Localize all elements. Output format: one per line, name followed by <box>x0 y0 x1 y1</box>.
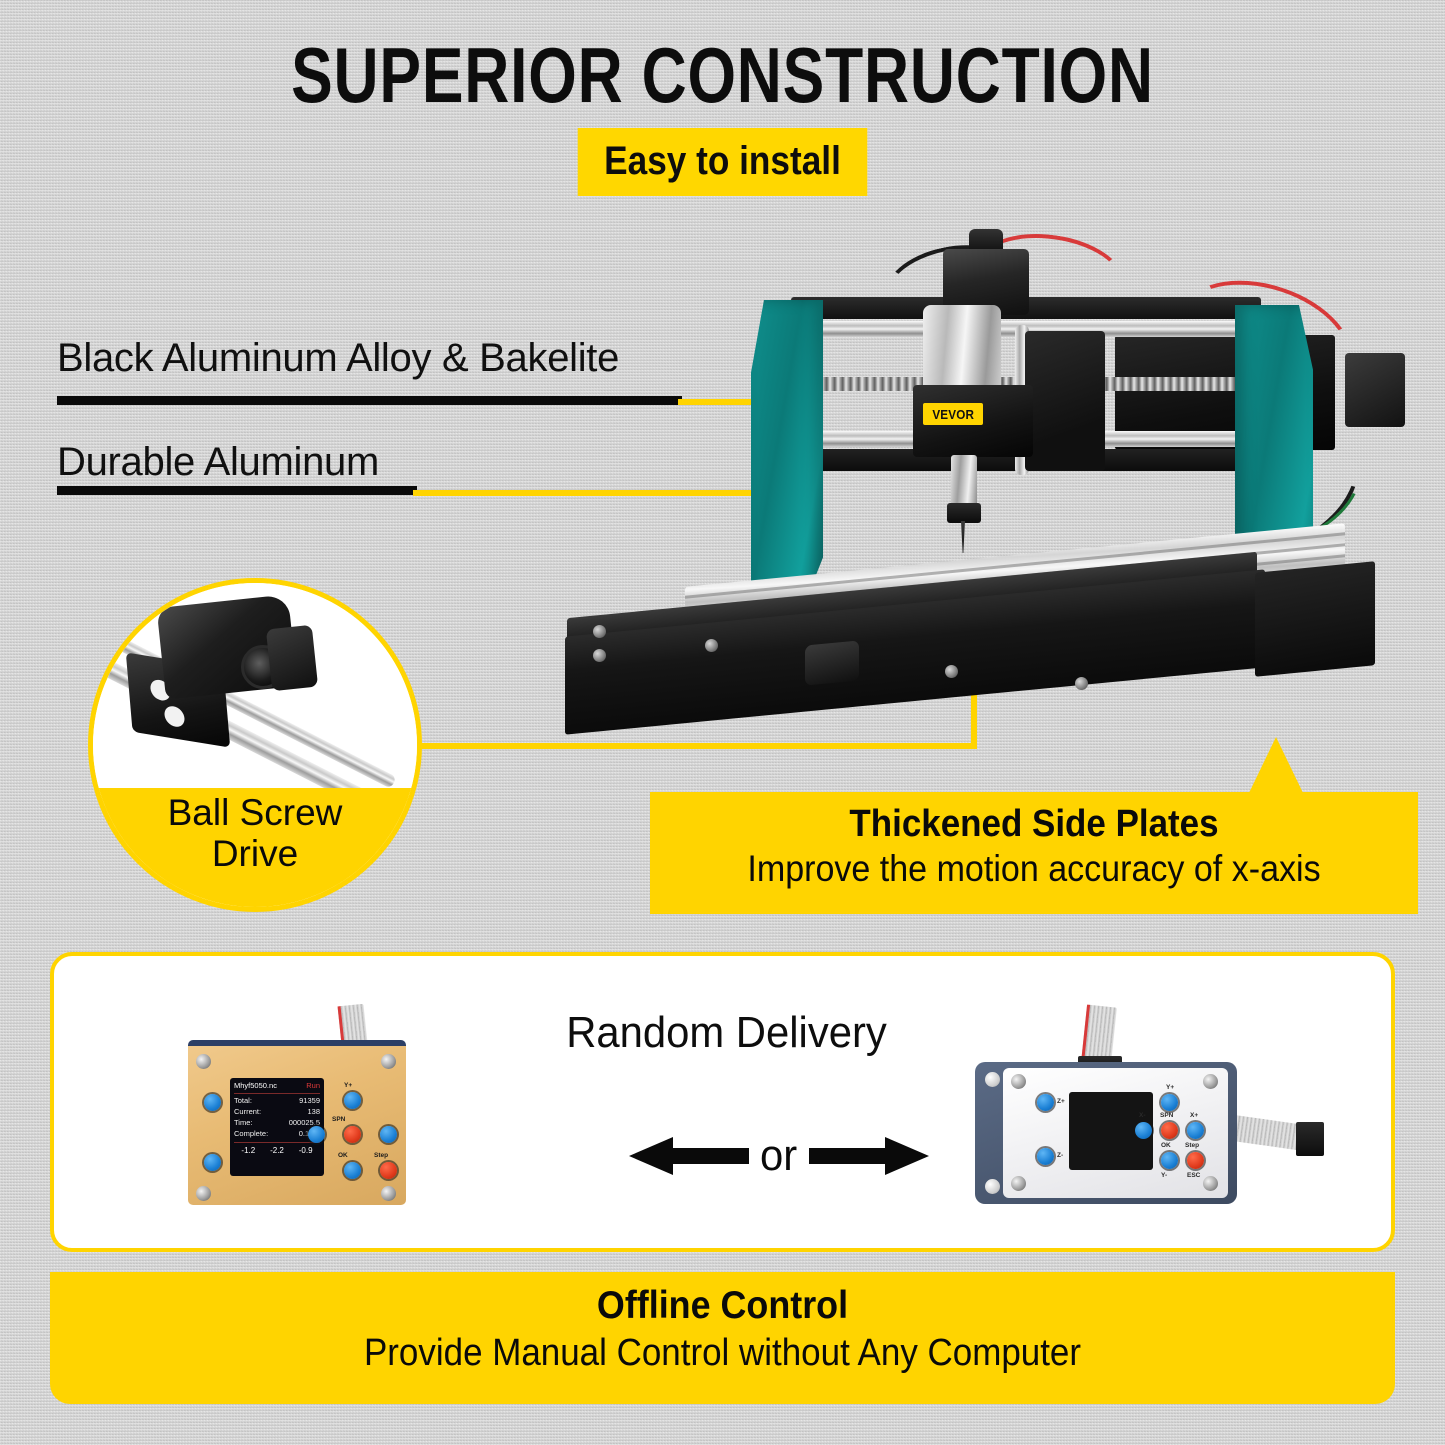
controller-button-label: OK <box>1161 1142 1171 1149</box>
ball-screw-caption-line1: Ball Screw <box>168 792 343 833</box>
ribbon-connector-right-out <box>1296 1122 1324 1156</box>
feature-label-bakelite: Black Aluminum Alloy & Bakelite <box>57 336 619 381</box>
controller-button-z-minus[interactable] <box>1037 1148 1054 1165</box>
mount-hole-icon <box>985 1072 1000 1087</box>
mount-hole-icon <box>164 705 186 729</box>
ball-screw-photo <box>93 583 417 788</box>
controller-button-step[interactable] <box>380 1162 397 1179</box>
controller-button-label: SPN <box>332 1116 345 1123</box>
offline-control-subtitle: Provide Manual Control without Any Compu… <box>104 1331 1341 1377</box>
controller-button-y-plus[interactable] <box>1161 1094 1178 1111</box>
controller-button-label: Z+ <box>1057 1098 1065 1105</box>
side-plates-callout-pointer <box>1248 737 1304 795</box>
ball-screw-inset: Ball Screw Drive <box>88 578 422 912</box>
side-plates-callout-subtitle: Improve the motion accuracy of x-axis <box>681 847 1388 891</box>
mount-screw-icon <box>1011 1074 1026 1089</box>
controller-button-z-minus[interactable] <box>204 1154 221 1171</box>
spindle-collet <box>951 455 977 507</box>
lcd-coordinates: -1.2 -2.2 -0.9 <box>234 1142 320 1155</box>
offline-control-banner: Offline Control Provide Manual Control w… <box>50 1272 1395 1404</box>
bearing-block-nose <box>266 625 318 691</box>
arrow-right-icon <box>809 1143 929 1169</box>
mount-screw-icon <box>1203 1074 1218 1089</box>
controller-button-spn[interactable] <box>1161 1122 1178 1139</box>
controller-button-label: Z- <box>1057 1152 1063 1159</box>
cutting-bit <box>961 521 965 553</box>
base-adjust-knob <box>805 640 859 685</box>
ball-screw-caption: Ball Screw Drive <box>93 788 417 907</box>
lcd-coord-x: -1.2 <box>241 1146 255 1155</box>
offline-controller-white: Z+ Z- Y+ X- SPN X+ OK Step Y- ESC <box>1003 1068 1228 1198</box>
lcd-header-row: Mhyf5050.nc Run <box>234 1081 320 1094</box>
controller-button-z-plus[interactable] <box>1037 1094 1054 1111</box>
lcd-coord-y: -2.2 <box>270 1146 284 1155</box>
base-frame-right <box>1255 561 1375 677</box>
lcd-row-current: Current: 138 <box>234 1107 320 1118</box>
subtitle-banner: Easy to install <box>578 128 868 196</box>
lcd-label: Complete: <box>234 1129 268 1140</box>
arrow-left-icon <box>629 1143 749 1169</box>
or-label: or <box>757 1131 802 1181</box>
lcd-value: 138 <box>307 1107 320 1118</box>
vevor-brand-badge: VEVOR <box>923 403 983 425</box>
mount-screw-icon <box>1011 1176 1026 1191</box>
controller-button-x-minus[interactable] <box>1135 1122 1152 1139</box>
controller-button-label: Step <box>374 1152 388 1159</box>
controller-button-spn[interactable] <box>344 1126 361 1143</box>
mount-screw-icon <box>381 1186 396 1201</box>
controller-button-x-plus[interactable] <box>1187 1122 1204 1139</box>
lcd-row-total: Total: 91359 <box>234 1096 320 1107</box>
lcd-label: Current: <box>234 1107 261 1118</box>
controller-button-label: X+ <box>1190 1112 1198 1119</box>
cnc-machine-photo: VEVOR <box>555 225 1420 770</box>
screw-head-icon <box>593 625 606 638</box>
collet-nut <box>947 503 981 523</box>
feature-label-aluminum: Durable Aluminum <box>57 440 379 485</box>
controller-button-label: X- <box>1139 1112 1146 1119</box>
infographic-canvas: SUPERIOR CONSTRUCTION Easy to install Bl… <box>0 0 1445 1445</box>
subtitle-banner-wrap: Easy to install <box>0 128 1445 196</box>
controller-button-label: Y+ <box>1166 1084 1174 1091</box>
mount-screw-icon <box>1203 1176 1218 1191</box>
screw-head-icon <box>945 665 958 678</box>
controller-button-label: ESC <box>1187 1172 1200 1179</box>
mount-hole-icon <box>985 1179 1000 1194</box>
mount-screw-icon <box>381 1054 396 1069</box>
random-delivery-arrows: or <box>614 1121 944 1191</box>
ball-screw-caption-line2: Drive <box>212 833 298 874</box>
spindle-motor <box>923 305 1001 397</box>
screw-head-icon <box>1075 677 1088 690</box>
controller-button-z-plus[interactable] <box>204 1094 221 1111</box>
offline-controller-wood: Mhyf5050.nc Run Total: 91359 Current: 13… <box>188 1040 406 1205</box>
controller-button-y-plus[interactable] <box>344 1092 361 1109</box>
feature-rule-aluminum <box>57 486 417 495</box>
controller-button-step[interactable] <box>1187 1152 1204 1169</box>
lcd-filename: Mhyf5050.nc <box>234 1081 277 1092</box>
side-plates-callout-title: Thickened Side Plates <box>681 802 1388 847</box>
screw-head-icon <box>593 649 606 662</box>
controller-button-label: OK <box>338 1152 348 1159</box>
lcd-label: Time: <box>234 1118 252 1129</box>
screw-head-icon <box>705 639 718 652</box>
z-axis-carriage <box>1025 331 1105 471</box>
controller-button-x-plus[interactable] <box>380 1126 397 1143</box>
lcd-coord-z: -0.9 <box>299 1146 313 1155</box>
mount-screw-icon <box>196 1054 211 1069</box>
vevor-brand-text: VEVOR <box>932 407 974 422</box>
x-axis-stepper-motor <box>1345 353 1405 427</box>
controller-button-label: Step <box>1185 1142 1199 1149</box>
controller-button-ok[interactable] <box>344 1162 361 1179</box>
lcd-status: Run <box>306 1081 320 1092</box>
lcd-value: 91359 <box>299 1096 320 1107</box>
offline-control-title: Offline Control <box>104 1282 1341 1331</box>
controller-button-label: Y- <box>1161 1172 1167 1179</box>
controller-button-ok[interactable] <box>1161 1152 1178 1169</box>
controller-button-x-minus[interactable] <box>308 1126 325 1143</box>
controller-button-label: Y+ <box>344 1082 352 1089</box>
side-plates-callout: Thickened Side Plates Improve the motion… <box>650 792 1418 914</box>
page-title: SUPERIOR CONSTRUCTION <box>145 36 1301 114</box>
controller-lcd-screen: Mhyf5050.nc Run Total: 91359 Current: 13… <box>230 1078 324 1176</box>
mount-screw-icon <box>196 1186 211 1201</box>
lcd-row-time: Time: 000025.5 <box>234 1118 320 1129</box>
controller-button-label: SPN <box>1160 1112 1173 1119</box>
lcd-label: Total: <box>234 1096 252 1107</box>
